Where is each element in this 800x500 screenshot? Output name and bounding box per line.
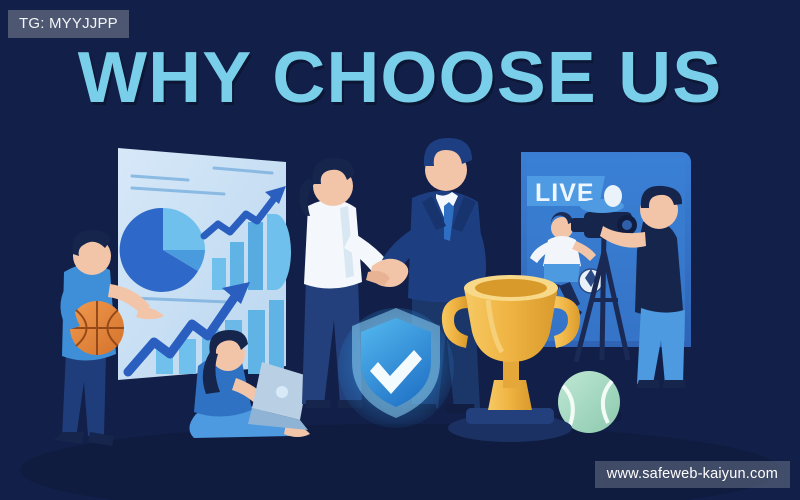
presentation-board: [118, 148, 291, 380]
poster-canvas: LIVE: [0, 0, 800, 500]
telegram-handle-badge: TG: MYYJJPP: [8, 10, 129, 38]
security-shield: [338, 308, 454, 428]
page-title: WHY CHOOSE US: [0, 42, 800, 114]
website-watermark: www.safeweb-kaiyun.com: [595, 461, 790, 488]
